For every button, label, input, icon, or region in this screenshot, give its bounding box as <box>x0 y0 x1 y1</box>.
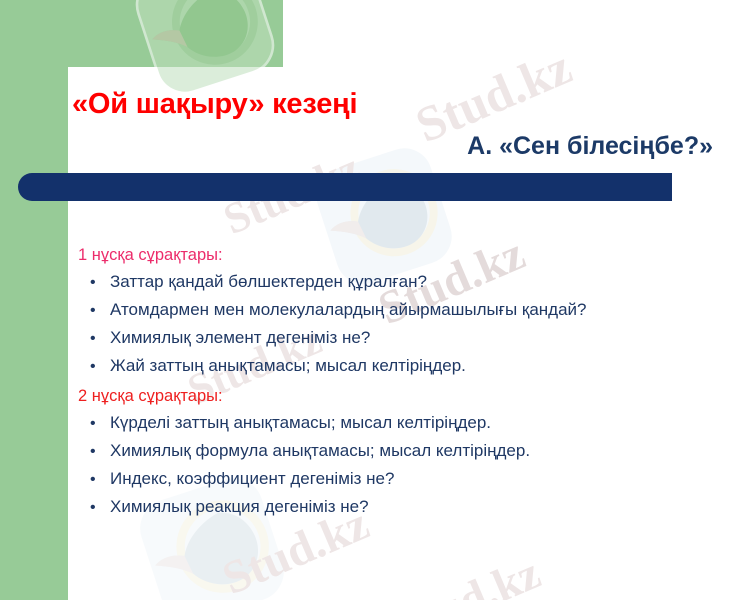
navy-divider-bar <box>18 173 672 201</box>
question-list-container: 1 нұсқа сұрақтары:•Заттар қандай бөлшект… <box>78 243 728 521</box>
bullet-icon: • <box>78 410 110 437</box>
list-item: •Атомдармен мен молекулалардың айырмашыл… <box>78 296 728 324</box>
bullet-icon: • <box>78 438 110 465</box>
list-item: •Заттар қандай бөлшектерден құралған? <box>78 268 728 296</box>
green-left-panel <box>0 0 68 600</box>
section-heading-2: 2 нұсқа сұрақтары: <box>78 384 728 409</box>
list-item-label: Химиялық элемент дегеніміз не? <box>110 324 370 351</box>
slide-subtitle: А. «Сен білесіңбе?» <box>68 132 713 161</box>
list-item-label: Индекс, коэффициент дегеніміз не? <box>110 465 394 492</box>
list-item-label: Химиялық реакция дегеніміз не? <box>110 493 369 520</box>
bullet-icon: • <box>78 353 110 380</box>
list-item: •Химиялық формула анықтамасы; мысал келт… <box>78 437 728 465</box>
bullet-icon: • <box>78 325 110 352</box>
list-item: •Индекс, коэффициент дегеніміз не? <box>78 465 728 493</box>
list-item-label: Заттар қандай бөлшектерден құралған? <box>110 268 427 295</box>
list-item-label: Химиялық формула анықтамасы; мысал келті… <box>110 437 530 464</box>
list-item: •Химиялық реакция дегеніміз не? <box>78 493 728 521</box>
list-item: •Химиялық элемент дегеніміз не? <box>78 324 728 352</box>
list-item-label: Күрделі заттың анықтамасы; мысал келтірі… <box>110 409 491 436</box>
bullet-icon: • <box>78 494 110 521</box>
list-item-label: Жай заттың анықтамасы; мысал келтіріңдер… <box>110 352 466 379</box>
list-item: •Жай заттың анықтамасы; мысал келтіріңде… <box>78 352 728 380</box>
green-top-band <box>0 0 283 67</box>
bullet-icon: • <box>78 269 110 296</box>
section-heading-1: 1 нұсқа сұрақтары: <box>78 243 728 268</box>
bullet-icon: • <box>78 466 110 493</box>
bullet-icon: • <box>78 297 110 324</box>
list-item-label: Атомдармен мен молекулалардың айырмашылы… <box>110 296 587 323</box>
slide-title: «Ой шақыру» кезеңі <box>72 88 357 121</box>
slide-canvas: Stud.kzStud.kzStud.kzStud.kzStud.kzStud.… <box>0 0 735 600</box>
list-item: •Күрделі заттың анықтамасы; мысал келтір… <box>78 409 728 437</box>
